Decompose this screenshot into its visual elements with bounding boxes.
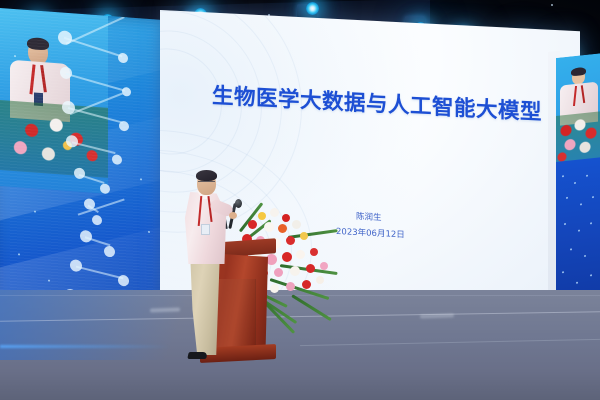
floor-light-streak xyxy=(0,345,170,348)
floor-blue-reflection xyxy=(0,290,200,360)
feed-flowers xyxy=(0,100,108,178)
slide-date: 2023年06月12日 xyxy=(336,225,405,240)
presenter-badge xyxy=(201,224,210,235)
right-led-screen xyxy=(556,53,600,318)
stage-light-icon xyxy=(306,2,319,15)
left-screen-video-feed xyxy=(0,8,108,194)
presenter-hand xyxy=(229,212,237,219)
microphone-icon xyxy=(235,199,242,208)
presenter-hair xyxy=(196,170,217,181)
conference-stage-photo: 生物医学大数据与人工智能大模型 陈润生 2023年06月12日 xyxy=(0,0,600,400)
glasses-icon xyxy=(198,181,215,187)
slide-author: 陈润生 xyxy=(356,210,382,223)
left-led-screen xyxy=(0,8,168,332)
presenter-shoe xyxy=(187,352,207,359)
slide-title: 生物医学大数据与人工智能大模型 xyxy=(212,79,542,127)
presenter xyxy=(176,170,236,370)
presenter-trousers xyxy=(187,260,221,355)
